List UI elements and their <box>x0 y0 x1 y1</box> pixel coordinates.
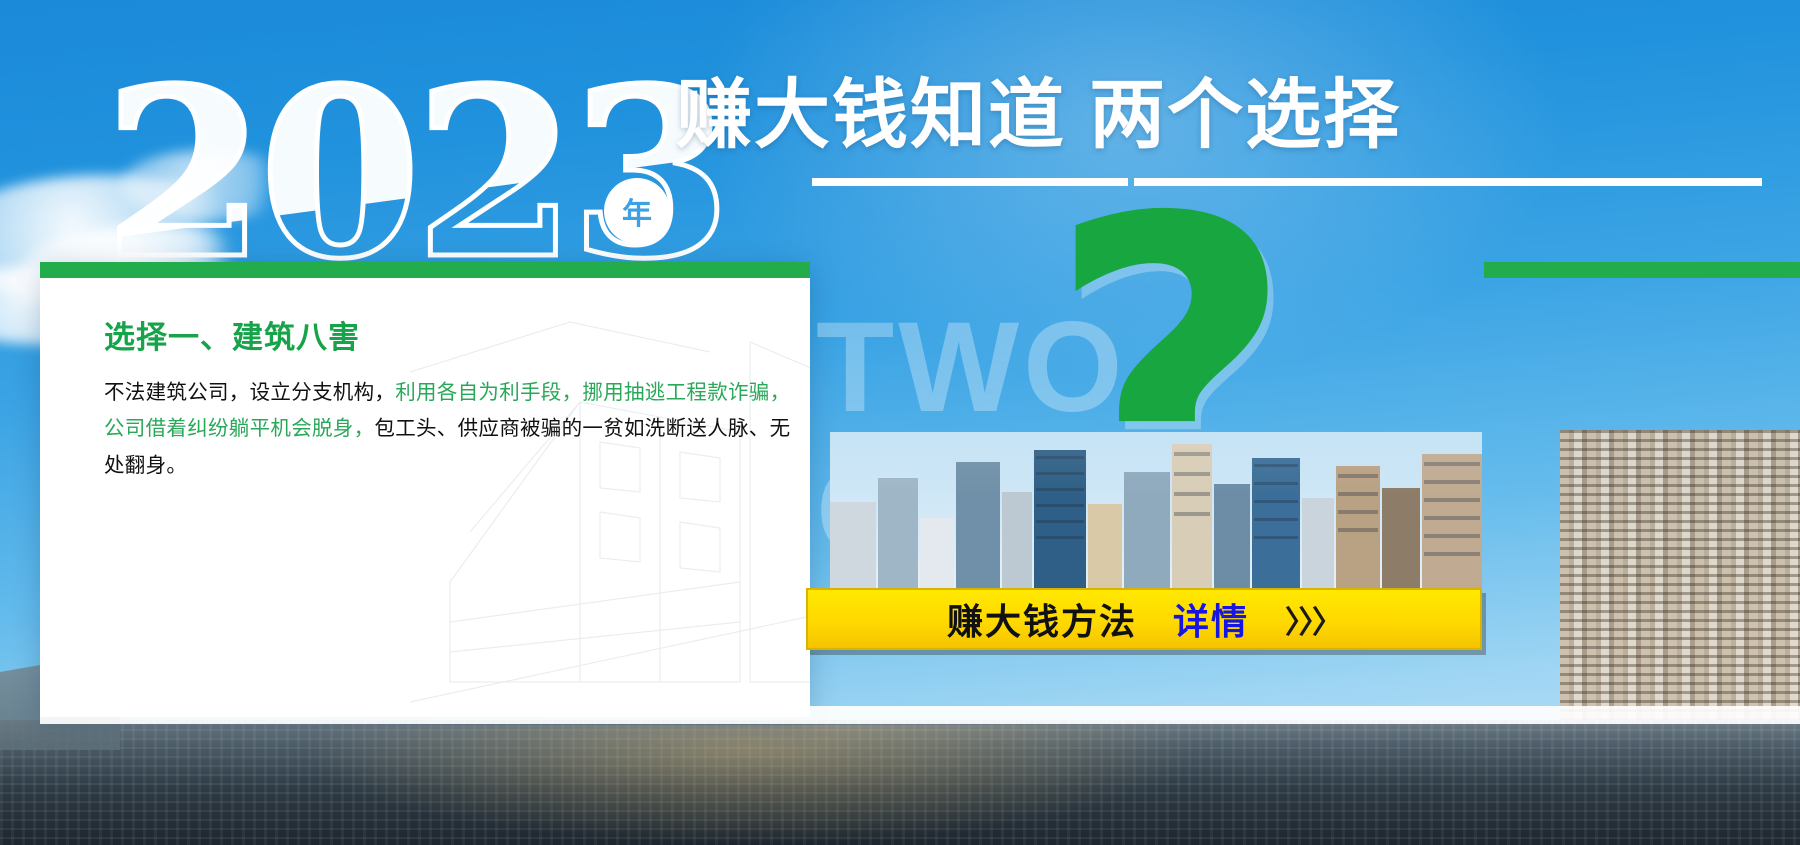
section-one: 选择一、建筑八害 不法建筑公司，设立分支机构，利用各自为利手段，挪用抽逃工程款诈… <box>104 312 794 484</box>
cityscape-photo <box>830 432 1482 592</box>
content-card: 选择一、建筑八害 不法建筑公司，设立分支机构，利用各自为利手段，挪用抽逃工程款诈… <box>40 262 810 717</box>
chevron-right-icon: 〉〉〉 <box>1285 597 1341 642</box>
cta-main-label: 赚大钱方法 <box>947 593 1137 645</box>
headline-rule <box>812 178 1762 186</box>
green-bar-right <box>1484 262 1800 278</box>
year-suffix-badge: 年 <box>604 178 670 244</box>
cta-detail-label: 详情 <box>1173 593 1249 645</box>
banner-stage: 2023 2023 年 赚大钱知道 两个选择 <box>0 0 1800 845</box>
headline-rule-left <box>812 178 1128 186</box>
water-glow <box>300 725 1200 845</box>
headline-rule-right <box>1134 178 1762 186</box>
card-baseboard <box>40 706 1800 724</box>
cta-button[interactable]: 赚大钱方法 详情 〉〉〉 <box>806 588 1482 650</box>
section-one-body: 不法建筑公司，设立分支机构，利用各自为利手段，挪用抽逃工程款诈骗，公司借着纠纷躺… <box>104 375 794 484</box>
section-one-text-1: 不法建筑公司，设立分支机构， <box>104 381 395 404</box>
page-title: 赚大钱知道 两个选择 <box>676 78 1766 154</box>
right-city-photo <box>1560 430 1800 720</box>
card-green-header-bar <box>40 262 810 278</box>
section-one-title: 选择一、建筑八害 <box>104 312 794 357</box>
water-reflection-band <box>0 720 1800 845</box>
